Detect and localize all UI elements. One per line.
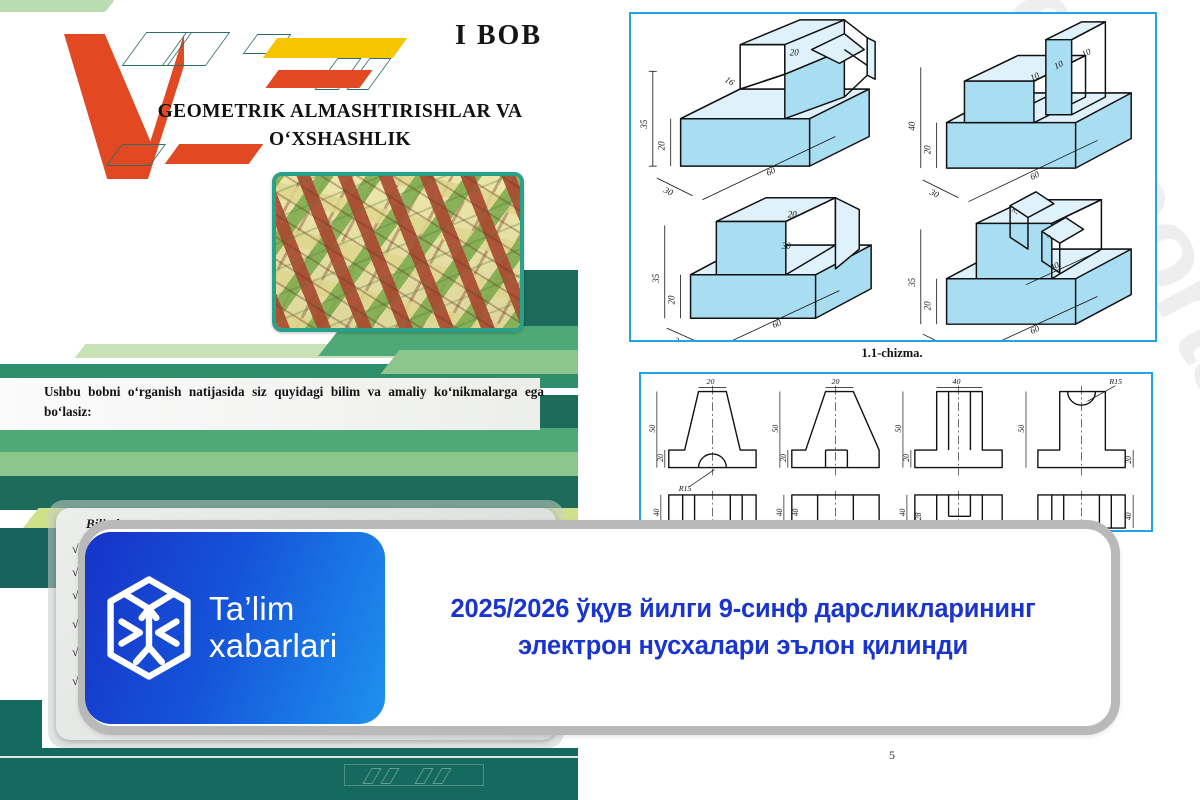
svg-text:40: 40 [1124, 512, 1133, 520]
svg-text:R15: R15 [678, 484, 692, 493]
svg-text:20: 20 [657, 141, 667, 150]
figure-box-orthographic-views: .o{fill:none;stroke:#111;stroke-width:1.… [639, 372, 1153, 532]
svg-text:20: 20 [788, 210, 797, 220]
svg-text:35: 35 [639, 119, 649, 129]
svg-text:20: 20 [923, 145, 933, 154]
headline-line-2: электрон нусхалари эълон қилинди [401, 628, 1085, 664]
svg-text:40: 40 [907, 121, 917, 130]
tessellation-detail-layer [276, 176, 520, 328]
talim-xabarlari-logo[interactable]: Ta’lim xabarlari [85, 532, 385, 724]
svg-text:20: 20 [656, 454, 665, 462]
chapter-label: I BOB [455, 20, 542, 52]
intro-paragraph: Ushbu bobni o‘rganish natijasida siz quy… [44, 382, 544, 423]
svg-text:60: 60 [1028, 169, 1041, 182]
yellow-bar-shape [263, 38, 408, 58]
cube-box-icon [103, 574, 195, 682]
svg-text:50: 50 [894, 425, 903, 433]
red-bar-shape [265, 70, 372, 88]
svg-text:R15: R15 [1108, 377, 1122, 386]
isometric-solids-svg: .ln{fill:none;stroke:#111;stroke-width:1… [631, 14, 1155, 340]
svg-text:20: 20 [790, 48, 799, 58]
figure-box-isometric-solids: .ln{fill:none;stroke:#111;stroke-width:1… [629, 12, 1157, 342]
page-number: 5 [584, 748, 1200, 763]
logo-line-1: Ta’lim [209, 591, 337, 628]
svg-text:20: 20 [902, 454, 911, 462]
announcement-banner[interactable]: Ta’lim xabarlari 2025/2026 ўқув йилги 9-… [78, 520, 1120, 735]
figure-caption: 1.1-chizma. [584, 346, 1200, 361]
logo-line-2: xabarlari [209, 628, 337, 665]
headline-line-1: 2025/2026 ўқув йилги 9-синф дарсликларин… [401, 591, 1085, 627]
svg-text:40: 40 [898, 508, 907, 516]
band-divider-line [0, 756, 584, 758]
svg-text:30: 30 [781, 241, 791, 251]
svg-text:40: 40 [791, 508, 800, 516]
svg-text:16: 16 [723, 74, 736, 87]
svg-text:40: 40 [775, 508, 784, 516]
orthographic-views-svg: .o{fill:none;stroke:#111;stroke-width:1.… [641, 374, 1151, 530]
svg-text:50: 50 [771, 425, 780, 433]
svg-text:20: 20 [667, 295, 677, 304]
svg-text:40: 40 [953, 377, 961, 386]
escher-tessellation-image [272, 172, 524, 332]
svg-text:40: 40 [652, 508, 661, 516]
svg-text:20: 20 [923, 301, 933, 310]
svg-text:50: 50 [1017, 425, 1026, 433]
chapter-title: GEOMETRIK ALMASHTIRISHLAR VA O‘XSHASHLIK [130, 98, 550, 155]
bottom-teal-band [0, 748, 584, 800]
screenshot-root: I BOB GEOMETRIK ALMASHTIRISHLAR VA O‘XSH… [0, 0, 1200, 800]
svg-text:20: 20 [779, 454, 788, 462]
svg-text:20: 20 [1124, 456, 1133, 464]
svg-text:20: 20 [832, 377, 840, 386]
footer-watermark-shape [344, 764, 484, 786]
svg-text:20: 20 [706, 377, 714, 386]
banner-headline: 2025/2026 ўқув йилги 9-синф дарсликларин… [385, 591, 1111, 663]
svg-text:35: 35 [907, 277, 917, 287]
svg-text:35: 35 [651, 273, 661, 283]
logo-wordmark: Ta’lim xabarlari [209, 591, 337, 665]
svg-text:50: 50 [648, 425, 657, 433]
